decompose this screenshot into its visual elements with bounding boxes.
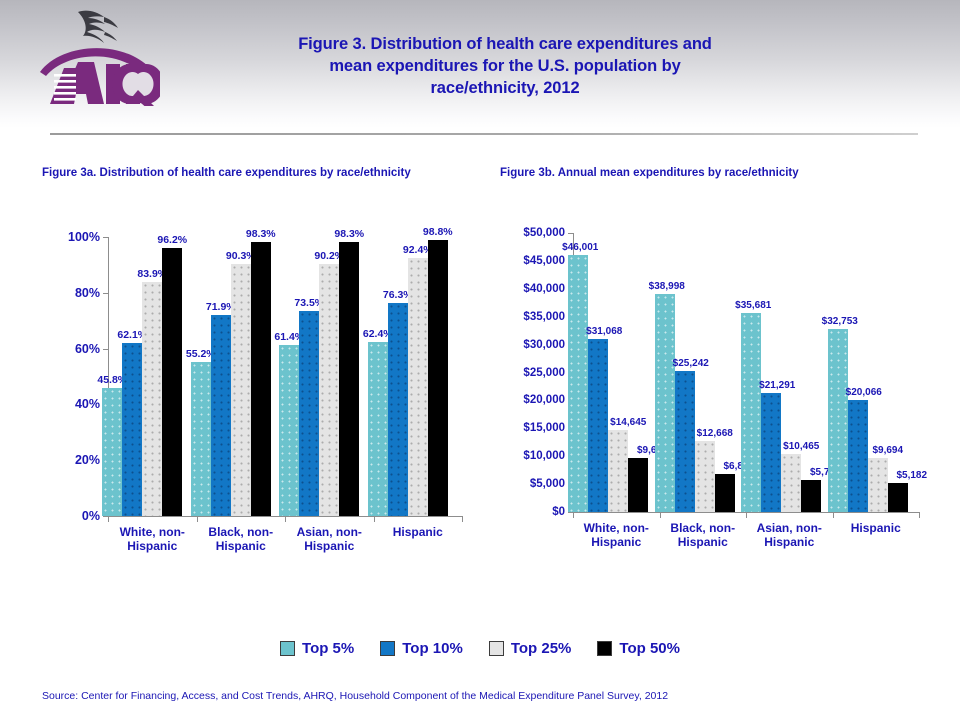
legend-swatch-icon [597,641,612,656]
figure-3a-chart: 0%20%40%60%80%100%45.8%62.1%83.9%96.2%Wh… [40,205,470,550]
bar-value-label: $5,182 [896,470,927,481]
bar [142,282,162,516]
bar-value-label: $12,668 [697,428,733,439]
bar [868,458,888,512]
bar [319,264,339,516]
legend-label: Top 10% [402,640,463,657]
page-title: Figure 3. Distribution of health care ex… [200,33,810,99]
bar [828,329,848,512]
bar [162,248,182,516]
legend-item: Top 5% [280,640,354,657]
bar [675,371,695,512]
x-axis-tick [197,516,198,522]
y-axis-tick-label: 60% [75,342,100,356]
bar [231,264,251,516]
y-axis-tick-label: 0% [82,509,100,523]
bar-value-label: $20,066 [846,387,882,398]
bar [368,342,388,516]
y-axis-tick-label: 20% [75,453,100,467]
x-axis-category-label: White, non- Hispanic [120,525,185,553]
legend-label: Top 50% [619,640,680,657]
bar [568,255,588,512]
x-axis-tick [374,516,375,522]
figure-3b-chart: $0$5,000$10,000$15,000$20,000$25,000$30,… [495,205,935,550]
legend-item: Top 10% [380,640,463,657]
hhs-eagle-icon [74,8,120,46]
header-divider [50,133,918,135]
bar [428,240,448,516]
x-axis-category-label: Hispanic [851,521,901,535]
bar [279,345,299,516]
legend-item: Top 50% [597,640,680,657]
ahrq-wordmark-icon [34,42,160,106]
chart-a-title: Figure 3a. Distribution of health care e… [42,166,412,181]
bar [388,303,408,516]
legend-swatch-icon [380,641,395,656]
bar-value-label: $9,694 [872,445,903,456]
bar-value-label: $31,068 [586,326,622,337]
bar-value-label: $35,681 [735,300,771,311]
y-axis-tick-label: $35,000 [523,311,565,323]
bar [888,483,908,512]
bar-value-label: 98.3% [246,228,276,240]
bar [102,388,122,516]
bar [408,258,428,516]
bar [715,474,735,512]
x-axis-tick [660,512,661,518]
y-axis-tick-label: $40,000 [523,283,565,295]
bar [628,458,648,512]
x-axis-category-label: White, non- Hispanic [584,521,649,549]
x-axis-tick [285,516,286,522]
bar [299,311,319,516]
x-axis-tick [746,512,747,518]
figure-page: Figure 3. Distribution of health care ex… [0,0,960,720]
bar-value-label: $14,645 [610,417,646,428]
legend-swatch-icon [489,641,504,656]
chart-legend: Top 5%Top 10%Top 25%Top 50% [0,640,960,657]
bar [761,393,781,512]
y-axis-tick-label: 80% [75,286,100,300]
y-axis-tick-label: $20,000 [523,394,565,406]
y-axis-tick [103,349,108,350]
bar [588,339,608,512]
y-axis-tick-label: $10,000 [523,450,565,462]
title-line-1: Figure 3. Distribution of health care ex… [200,33,810,55]
x-axis-tick [462,516,463,522]
bar-value-label: $46,001 [562,242,598,253]
bar [801,480,821,512]
bar [251,242,271,516]
bar [741,313,761,512]
y-axis-tick-label: $30,000 [523,339,565,351]
chart-b-title: Figure 3b. Annual mean expenditures by r… [500,166,900,181]
bar-value-label: 98.3% [334,228,364,240]
y-axis-tick [568,233,573,234]
x-axis-tick [833,512,834,518]
legend-label: Top 5% [302,640,354,657]
x-axis-tick [919,512,920,518]
bar [655,294,675,512]
bar [608,430,628,512]
y-axis-tick-label: $50,000 [523,227,565,239]
bar-value-label: $21,291 [759,380,795,391]
bar [848,400,868,512]
x-axis-tick [573,512,574,518]
legend-label: Top 25% [511,640,572,657]
x-axis-category-label: Black, non- Hispanic [208,525,273,553]
bar-value-label: $10,465 [783,441,819,452]
bar-value-label: $32,753 [822,316,858,327]
y-axis-tick-label: $45,000 [523,255,565,267]
x-axis-category-label: Asian, non- Hispanic [297,525,362,553]
x-axis-category-label: Hispanic [393,525,443,539]
x-axis-category-label: Black, non- Hispanic [670,521,735,549]
legend-item: Top 25% [489,640,572,657]
x-axis-category-label: Asian, non- Hispanic [757,521,822,549]
title-line-2: mean expenditures for the U.S. populatio… [200,55,810,77]
x-axis-tick [108,516,109,522]
bar [339,242,359,516]
bar [122,343,142,516]
source-note: Source: Center for Financing, Access, an… [42,690,668,702]
y-axis-tick-label: 100% [68,230,100,244]
bar-value-label: $38,998 [649,281,685,292]
bar [211,315,231,516]
y-axis-tick [103,293,108,294]
y-axis-tick-label: $15,000 [523,422,565,434]
title-line-3: race/ethnicity, 2012 [200,77,810,99]
y-axis-tick-label: $0 [552,506,565,518]
y-axis-tick-label: 40% [75,397,100,411]
bar [781,454,801,512]
bar-value-label: 96.2% [157,234,187,246]
y-axis-tick-label: $5,000 [530,478,565,490]
y-axis-tick-label: $25,000 [523,367,565,379]
bar [695,441,715,512]
bar-value-label: 98.8% [423,226,453,238]
bar [191,362,211,516]
y-axis-tick [103,237,108,238]
legend-swatch-icon [280,641,295,656]
bar-value-label: $25,242 [673,358,709,369]
ahrq-logo [34,6,160,106]
